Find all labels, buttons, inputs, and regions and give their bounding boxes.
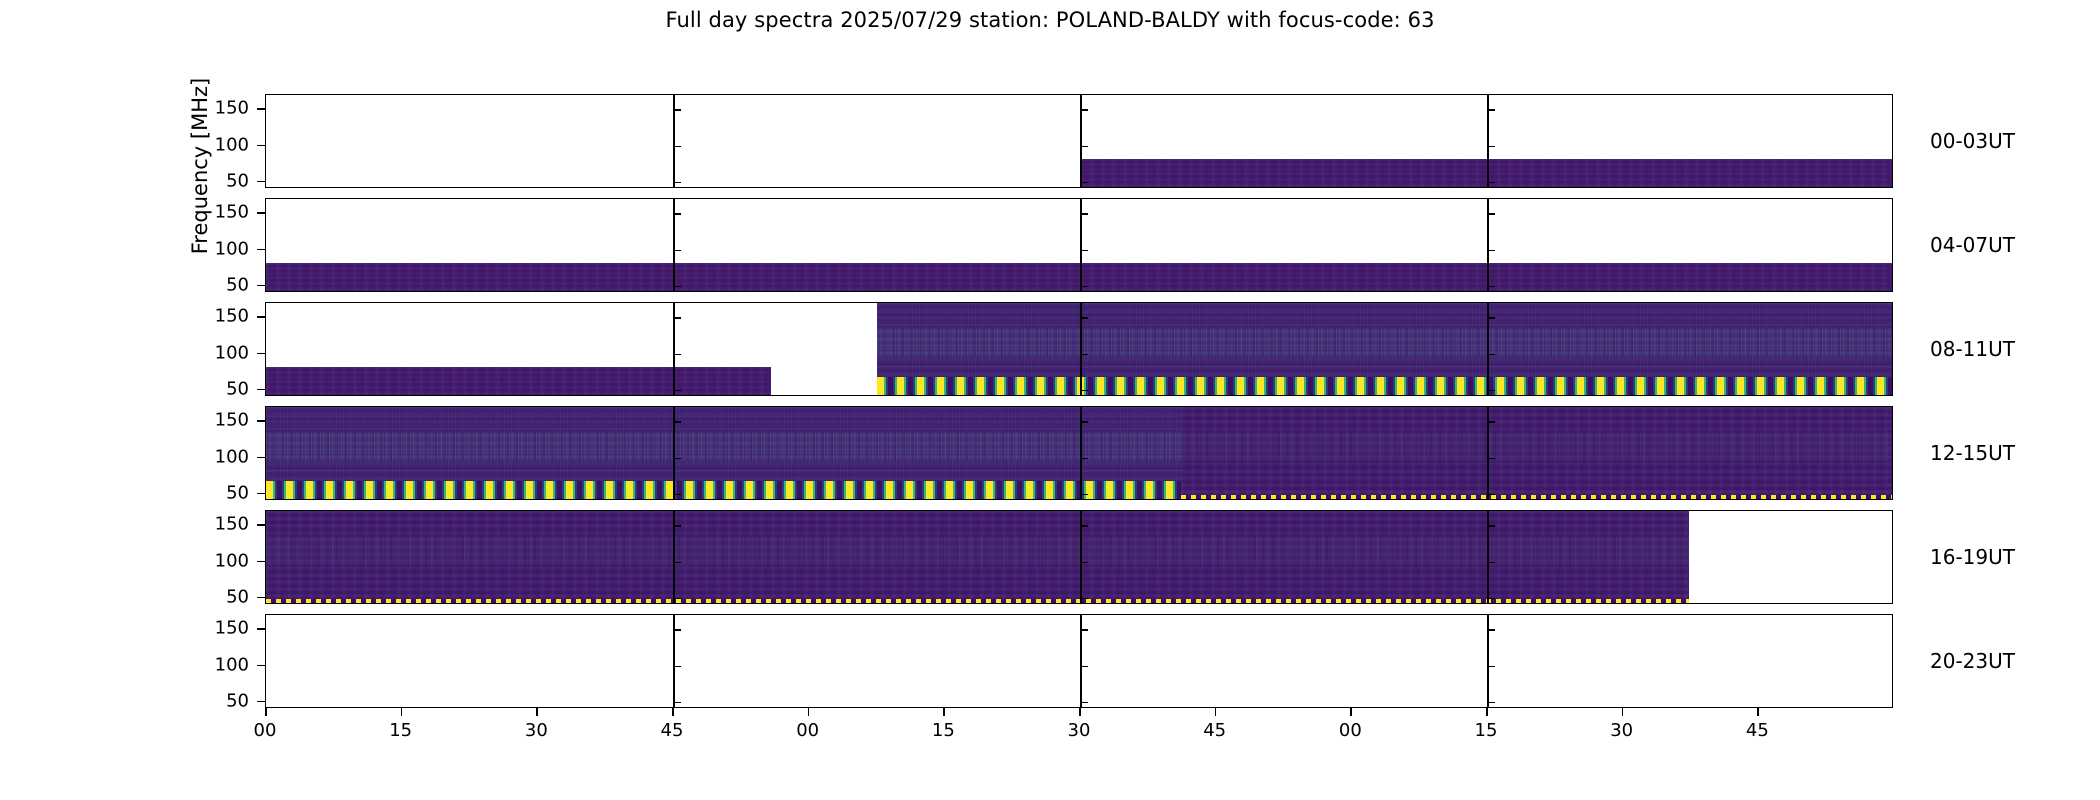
- y-tick-inner: [1080, 109, 1088, 111]
- row-label-00-03ut: 00-03UT: [1930, 129, 2015, 153]
- x-tick-label: 45: [1203, 720, 1226, 741]
- x-tick-label: 45: [1746, 720, 1769, 741]
- row-label-12-15ut: 12-15UT: [1930, 441, 2015, 465]
- y-tick-inner: [1080, 146, 1088, 148]
- x-tick: [401, 708, 403, 716]
- x-tick: [536, 708, 538, 716]
- y-tick-label: 100: [179, 134, 249, 155]
- x-tick-label: 45: [661, 720, 684, 741]
- interference-comb: [1181, 495, 1892, 499]
- y-tick-inner: [1487, 354, 1495, 356]
- y-tick-inner: [1080, 629, 1088, 631]
- y-tick-inner: [1487, 458, 1495, 460]
- spectra-block-full-band: [877, 303, 1893, 395]
- y-tick-inner: [673, 390, 681, 392]
- y-tick-inner: [1080, 666, 1088, 668]
- y-tick-label: 100: [179, 654, 249, 675]
- y-tick-label: 150: [179, 202, 249, 223]
- y-tick-inner: [1080, 317, 1088, 319]
- y-tick: [257, 665, 265, 667]
- spectrogram-panel[interactable]: [265, 614, 1893, 708]
- x-tick: [808, 708, 810, 716]
- spectra-streaks: [1181, 432, 1892, 461]
- y-tick-inner: [1080, 286, 1088, 288]
- interference-comb: [266, 481, 1181, 499]
- y-tick-label: 50: [179, 274, 249, 295]
- y-tick-inner: [1080, 494, 1088, 496]
- panel-plot-area: [266, 511, 1892, 603]
- y-tick-inner: [1487, 146, 1495, 148]
- y-tick: [257, 389, 265, 391]
- spectra-noise-texture: [266, 263, 1892, 291]
- y-tick-inner: [1487, 250, 1495, 252]
- row-label-20-23ut: 20-23UT: [1930, 649, 2015, 673]
- x-tick: [1079, 708, 1081, 716]
- spectrogram-panel[interactable]: [265, 94, 1893, 188]
- y-tick-label: 150: [179, 410, 249, 431]
- y-tick-inner: [673, 494, 681, 496]
- spectra-block-full-band: [266, 511, 1689, 603]
- y-tick-inner: [1080, 250, 1088, 252]
- y-tick-label: 100: [179, 550, 249, 571]
- y-tick: [257, 212, 265, 214]
- y-tick-inner: [1487, 629, 1495, 631]
- x-tick-label: 00: [254, 720, 277, 741]
- y-tick-inner: [673, 702, 681, 704]
- x-tick: [1350, 708, 1352, 716]
- x-tick-label: 30: [1610, 720, 1633, 741]
- panel-plot-area: [266, 95, 1892, 187]
- x-tick: [1757, 708, 1759, 716]
- y-tick-inner: [673, 182, 681, 184]
- y-tick-label: 100: [179, 446, 249, 467]
- x-tick-label: 00: [1339, 720, 1362, 741]
- y-tick-inner: [1487, 213, 1495, 215]
- y-tick: [257, 493, 265, 495]
- y-tick-inner: [1487, 562, 1495, 564]
- y-tick-inner: [1487, 494, 1495, 496]
- y-tick: [257, 597, 265, 599]
- y-tick: [257, 316, 265, 318]
- y-tick-inner: [1487, 182, 1495, 184]
- y-tick: [257, 285, 265, 287]
- y-tick: [257, 561, 265, 563]
- spectrogram-panel[interactable]: [265, 302, 1893, 396]
- y-tick: [257, 181, 265, 183]
- spectrogram-figure: Full day spectra 2025/07/29 station: POL…: [0, 0, 2100, 800]
- y-tick-inner: [1080, 458, 1088, 460]
- y-tick-inner: [1080, 390, 1088, 392]
- y-tick-inner: [1080, 525, 1088, 527]
- panel-plot-area: [266, 199, 1892, 291]
- y-tick-label: 100: [179, 342, 249, 363]
- y-tick: [257, 420, 265, 422]
- y-tick: [257, 353, 265, 355]
- y-tick-inner: [1487, 390, 1495, 392]
- y-tick-inner: [673, 317, 681, 319]
- y-tick: [257, 145, 265, 147]
- x-tick: [1486, 708, 1488, 716]
- x-tick: [1622, 708, 1624, 716]
- y-tick-inner: [673, 666, 681, 668]
- interference-comb: [877, 377, 1893, 395]
- y-tick-label: 150: [179, 514, 249, 535]
- spectra-noise-texture: [266, 367, 771, 395]
- x-tick-label: 15: [932, 720, 955, 741]
- y-tick-label: 50: [179, 378, 249, 399]
- x-tick: [672, 708, 674, 716]
- spectra-block-low-band: [266, 367, 771, 395]
- row-label-08-11ut: 08-11UT: [1930, 337, 2015, 361]
- y-tick-inner: [1080, 702, 1088, 704]
- spectra-block-low-band: [1080, 159, 1892, 187]
- y-tick-inner: [1080, 598, 1088, 600]
- x-tick-label: 30: [525, 720, 548, 741]
- y-tick-inner: [1080, 182, 1088, 184]
- y-tick-inner: [673, 525, 681, 527]
- y-tick-inner: [673, 286, 681, 288]
- x-tick-label: 00: [796, 720, 819, 741]
- y-tick-inner: [673, 562, 681, 564]
- x-tick: [265, 708, 267, 716]
- y-tick-inner: [1080, 421, 1088, 423]
- y-tick: [257, 524, 265, 526]
- x-tick: [943, 708, 945, 716]
- y-tick: [257, 457, 265, 459]
- spectra-block-full-band: [266, 407, 1181, 499]
- figure-title: Full day spectra 2025/07/29 station: POL…: [0, 8, 2100, 32]
- spectra-streaks: [266, 536, 1689, 565]
- spectra-streaks: [266, 432, 1181, 461]
- y-tick-label: 150: [179, 306, 249, 327]
- panel-plot-area: [266, 303, 1892, 395]
- y-tick-inner: [1487, 702, 1495, 704]
- y-tick-inner: [673, 250, 681, 252]
- y-tick-label: 150: [179, 618, 249, 639]
- y-tick-inner: [673, 629, 681, 631]
- y-tick: [257, 628, 265, 630]
- x-tick-label: 15: [1475, 720, 1498, 741]
- y-tick-label: 50: [179, 586, 249, 607]
- y-tick-inner: [1487, 421, 1495, 423]
- y-tick-inner: [673, 458, 681, 460]
- x-tick: [1215, 708, 1217, 716]
- panel-plot-area: [266, 615, 1892, 707]
- y-tick-inner: [1487, 598, 1495, 600]
- panel-plot-area: [266, 407, 1892, 499]
- row-label-04-07ut: 04-07UT: [1930, 233, 2015, 257]
- y-tick-label: 150: [179, 98, 249, 119]
- spectra-noise-texture: [1080, 159, 1892, 187]
- spectra-block-full-band: [1181, 407, 1892, 499]
- y-tick-inner: [1080, 354, 1088, 356]
- y-tick-inner: [673, 213, 681, 215]
- x-tick-label: 30: [1068, 720, 1091, 741]
- y-tick-label: 50: [179, 170, 249, 191]
- y-tick: [257, 249, 265, 251]
- y-tick-inner: [1487, 286, 1495, 288]
- row-label-16-19ut: 16-19UT: [1930, 545, 2015, 569]
- spectrogram-panel[interactable]: [265, 510, 1893, 604]
- y-tick-inner: [673, 598, 681, 600]
- spectra-streaks: [877, 328, 1893, 357]
- y-tick-label: 50: [179, 690, 249, 711]
- y-tick-inner: [673, 109, 681, 111]
- y-tick: [257, 701, 265, 703]
- y-tick-inner: [1487, 317, 1495, 319]
- y-tick-inner: [1487, 525, 1495, 527]
- y-tick-inner: [1080, 562, 1088, 564]
- y-tick-label: 100: [179, 238, 249, 259]
- y-tick: [257, 108, 265, 110]
- y-tick-inner: [673, 421, 681, 423]
- x-tick-label: 15: [389, 720, 412, 741]
- interference-comb: [266, 599, 1689, 603]
- y-tick-inner: [673, 354, 681, 356]
- y-tick-label: 50: [179, 482, 249, 503]
- spectrogram-panel[interactable]: [265, 406, 1893, 500]
- y-tick-inner: [1080, 213, 1088, 215]
- y-tick-inner: [673, 146, 681, 148]
- y-tick-inner: [1487, 109, 1495, 111]
- y-tick-inner: [1487, 666, 1495, 668]
- spectra-block-low-band: [266, 263, 1892, 291]
- spectrogram-panel[interactable]: [265, 198, 1893, 292]
